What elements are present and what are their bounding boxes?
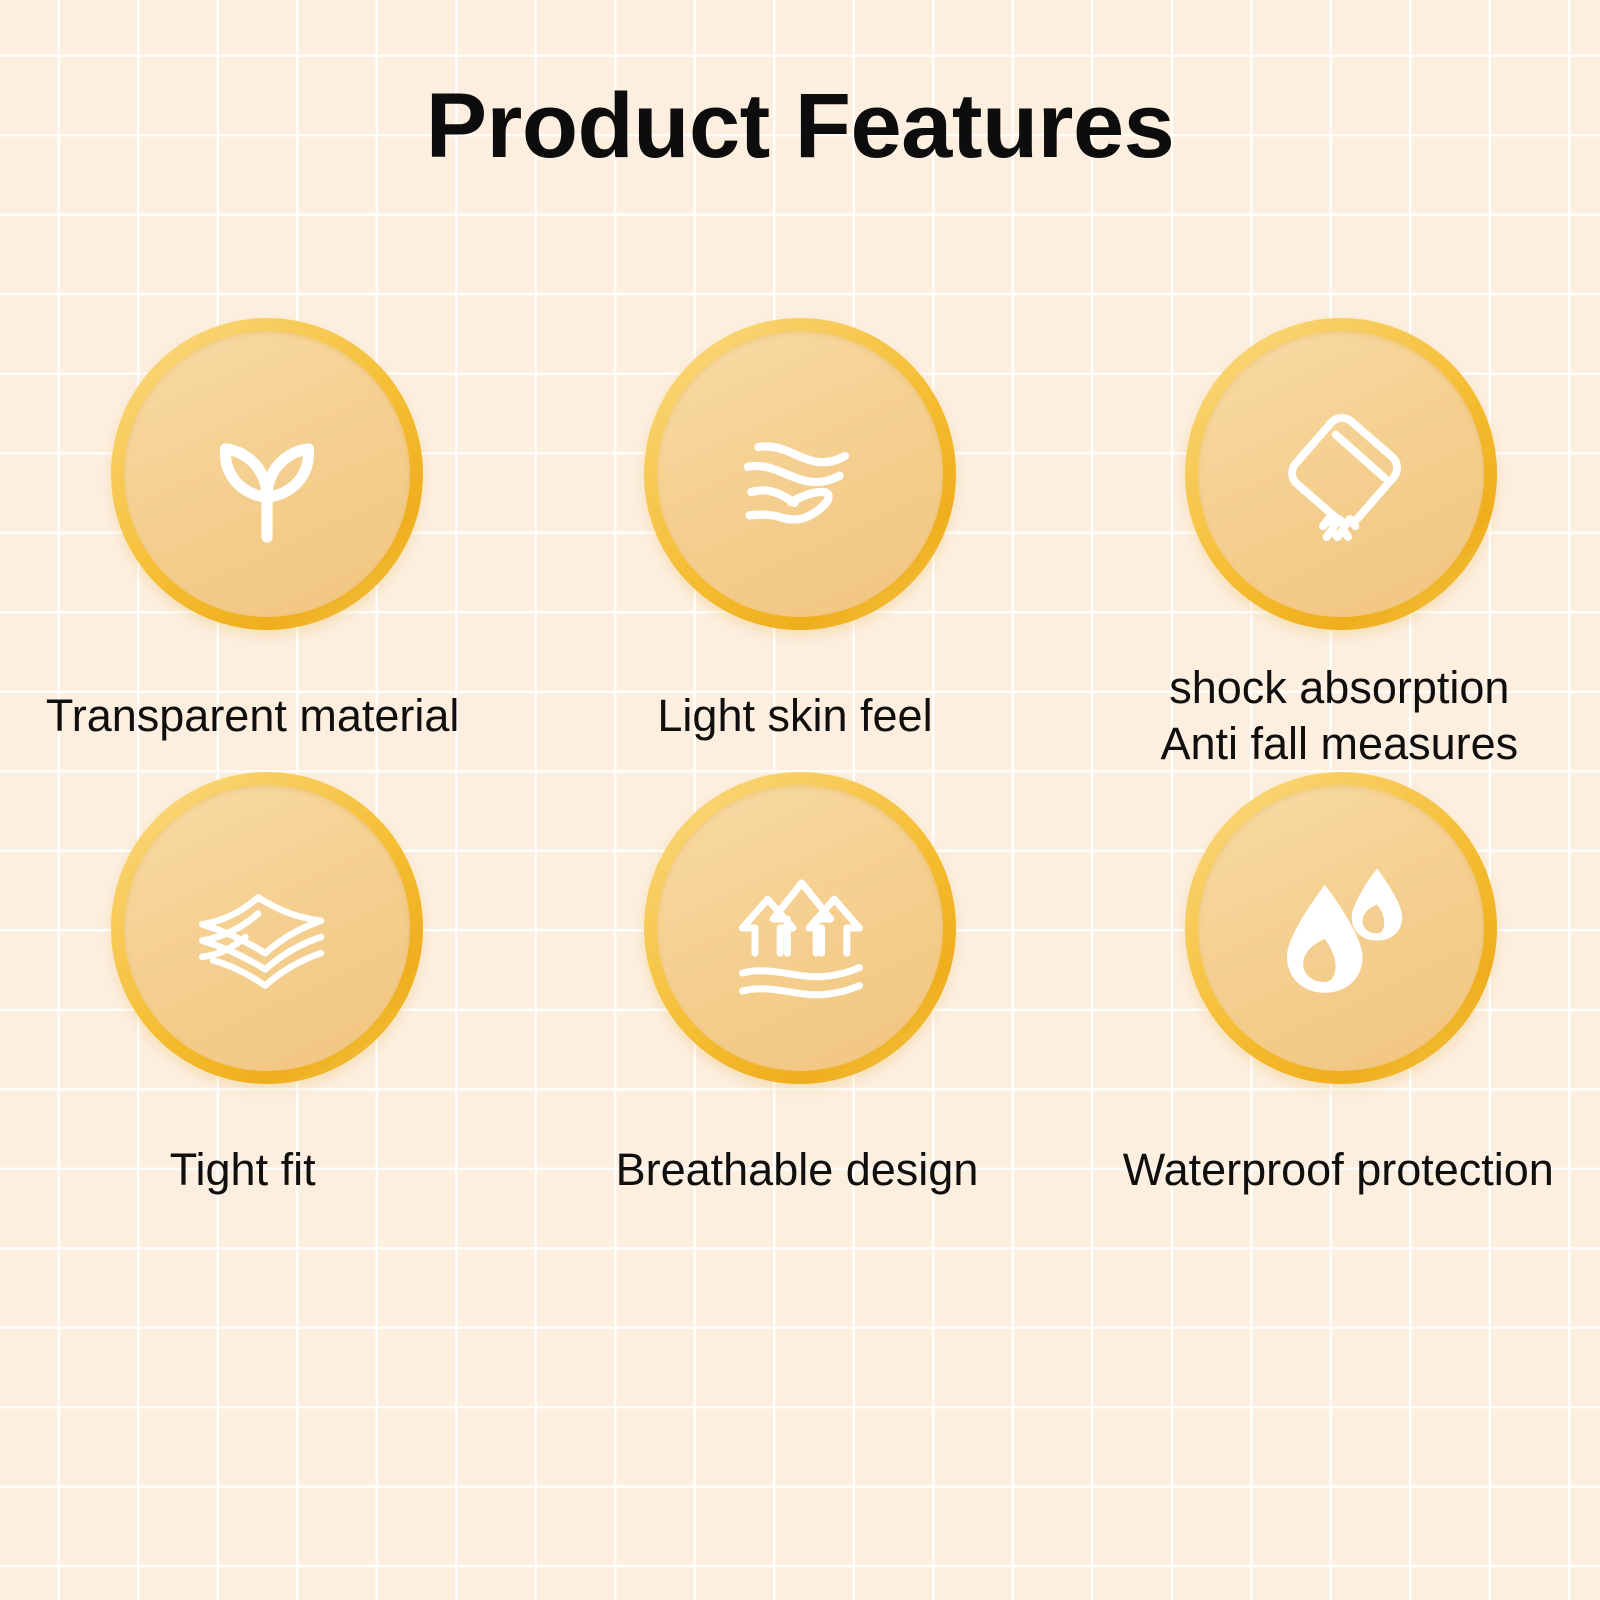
breathable-arrows-icon	[710, 838, 890, 1018]
feature-item-light-skin-feel: Light skin feel	[533, 318, 1066, 772]
feature-label-line: Tight fit	[170, 1142, 316, 1198]
feature-label: Waterproof protection	[1123, 1142, 1554, 1198]
feature-label: Breathable design	[616, 1142, 979, 1198]
feature-icon-badge	[111, 318, 423, 630]
feature-icon-badge	[1185, 318, 1497, 630]
feature-label-line: Anti fall measures	[1160, 716, 1518, 772]
feature-label-line: shock absorption	[1160, 660, 1518, 716]
features-grid: Transparent material Light skin feel	[0, 318, 1600, 1478]
feature-icon-badge	[644, 772, 956, 1084]
feature-label: Light skin feel	[657, 688, 932, 744]
feature-label: Transparent material	[46, 688, 460, 744]
feature-icon-badge	[644, 318, 956, 630]
feature-label-line: Transparent material	[46, 688, 460, 744]
feature-icon-badge	[1185, 772, 1497, 1084]
feature-item-shock-absorption: shock absorption Anti fall measures	[1067, 318, 1600, 772]
feature-label-line: Waterproof protection	[1123, 1142, 1554, 1198]
feature-item-transparent-material: Transparent material	[0, 318, 533, 772]
sprout-icon	[177, 384, 357, 564]
feature-icon-badge	[111, 772, 423, 1084]
feature-label-line: Breathable design	[616, 1142, 979, 1198]
shock-absorption-icon	[1251, 384, 1431, 564]
feature-label-line: Light skin feel	[657, 688, 932, 744]
layers-icon	[177, 838, 357, 1018]
feature-label: Tight fit	[170, 1142, 316, 1198]
feature-label: shock absorption Anti fall measures	[1160, 660, 1518, 773]
feature-item-breathable-design: Breathable design	[533, 772, 1066, 1226]
feature-item-waterproof-protection: Waterproof protection	[1067, 772, 1600, 1226]
page-title: Product Features	[0, 78, 1600, 175]
water-drops-icon	[1251, 838, 1431, 1018]
feature-item-tight-fit: Tight fit	[0, 772, 533, 1226]
air-waves-icon	[710, 384, 890, 564]
